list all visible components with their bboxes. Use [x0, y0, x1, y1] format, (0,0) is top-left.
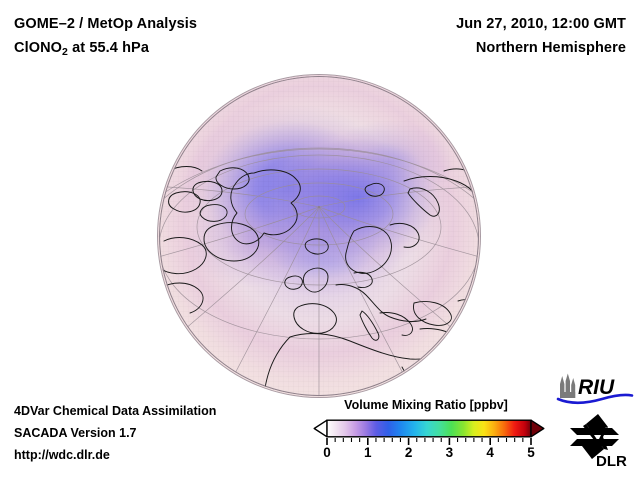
colorbar-tick-label: 4 — [486, 445, 494, 460]
colorbar-tick-label: 5 — [527, 445, 535, 460]
species-subscript: 2 — [62, 46, 68, 58]
species-name: ClONO — [14, 40, 62, 56]
colorbar-legend: Volume Mixing Ratio [ppbv] 012345 — [306, 398, 546, 470]
riu-wordmark: RIU — [578, 376, 615, 399]
orthographic-globe — [158, 75, 480, 397]
colorbar-tick-labels: 012345 — [313, 445, 545, 465]
header-right-block: Jun 27, 2010, 12:00 GMT Northern Hemisph… — [326, 12, 626, 60]
header-left-block: GOME–2 / MetOp Analysis ClONO2 at 55.4 h… — [14, 12, 314, 61]
colorbar-tick-label: 0 — [323, 445, 331, 460]
riu-logo: RIU — [556, 372, 634, 406]
timestamp-label: Jun 27, 2010, 12:00 GMT — [326, 12, 626, 36]
method-label: 4DVar Chemical Data Assimilation — [14, 400, 304, 422]
species-level-title: ClONO2 at 55.4 hPa — [14, 36, 314, 61]
colorbar-strip — [313, 419, 545, 438]
colorbar-overflow-arrow — [531, 420, 544, 437]
riu-tower-icon — [560, 374, 575, 399]
colorbar-tick-label: 3 — [446, 445, 454, 460]
website-url[interactable]: http://wdc.dlr.de — [14, 444, 304, 466]
colorbar-body — [327, 420, 531, 437]
globe-limb-shading — [158, 75, 480, 397]
pressure-level-text: at 55.4 hPa — [68, 40, 149, 56]
colorbar-tick-label: 2 — [405, 445, 413, 460]
hemisphere-label: Northern Hemisphere — [326, 36, 626, 60]
footer-left-block: 4DVar Chemical Data Assimilation SACADA … — [14, 400, 304, 466]
colorbar-tick-label: 1 — [364, 445, 372, 460]
analysis-title: GOME–2 / MetOp Analysis — [14, 12, 314, 36]
colorbar-title: Volume Mixing Ratio [ppbv] — [306, 398, 546, 412]
colorbar-underflow-arrow — [314, 420, 327, 437]
version-label: SACADA Version 1.7 — [14, 422, 304, 444]
globe-map-panel — [158, 75, 480, 397]
dlr-wordmark: DLR — [596, 453, 627, 469]
dlr-logo: DLR — [562, 409, 634, 469]
colorbar-gradient-svg — [313, 419, 545, 438]
